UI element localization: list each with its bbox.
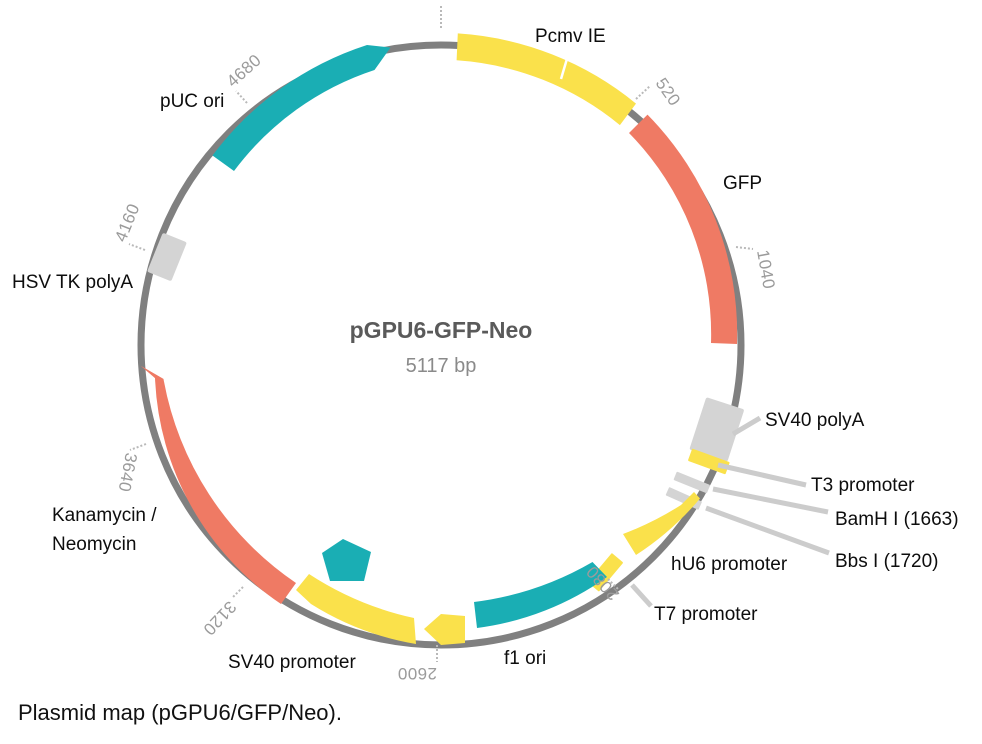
tick-label-4160: 4160 xyxy=(111,201,143,245)
leader-line-t7-promoter xyxy=(632,585,651,606)
plasmid-name: pGPU6-GFP-Neo xyxy=(350,317,533,343)
feature-small-yellow-arrow[interactable] xyxy=(424,614,465,645)
label-hu6-promoter: hU6 promoter xyxy=(671,554,788,575)
label-pcmv-ie: Pcmv IE xyxy=(535,26,606,47)
label-kanamycin-neomycin-line1: Kanamycin / xyxy=(52,505,157,526)
feature-arc-small-yellow xyxy=(424,614,465,645)
feature-arc-kanamycin-neomycin xyxy=(141,366,296,604)
label-hsv-tk-polya: HSV TK polyA xyxy=(12,272,133,293)
plasmid-map-figure: 520 1040 2080 2600 3120 3640 4160 4680 P… xyxy=(0,0,982,744)
leader-line-bbsi xyxy=(706,508,829,553)
tick-label-3120: 3120 xyxy=(199,597,240,639)
feature-arc-pcmv-ie xyxy=(457,33,636,125)
tick-mark-3120 xyxy=(232,587,243,598)
label-sv40-polya: SV40 polyA xyxy=(765,410,865,431)
tick-label-520: 520 xyxy=(652,74,685,109)
label-sv40-promoter: SV40 promoter xyxy=(228,652,356,673)
tick-label-1040: 1040 xyxy=(753,248,779,290)
label-bbsi-site: Bbs I (1720) xyxy=(835,551,939,572)
tick-mark-3640 xyxy=(130,444,146,450)
label-f1-ori: f1 ori xyxy=(504,648,546,669)
feature-pcmv-ie[interactable] xyxy=(457,33,636,125)
label-kanamycin-neomycin-line2: Neomycin xyxy=(52,534,136,555)
plasmid-map-canvas: 520 1040 2080 2600 3120 3640 4160 4680 P… xyxy=(0,0,982,744)
figure-caption: Plasmid map (pGPU6/GFP/Neo). xyxy=(18,700,342,726)
plasmid-size: 5117 bp xyxy=(406,355,477,377)
label-t7-promoter: T7 promoter xyxy=(654,604,758,625)
tick-mark-1040 xyxy=(736,247,753,249)
label-bamhi-site: BamH I (1663) xyxy=(835,509,959,530)
label-puc-ori: pUC ori xyxy=(160,91,224,112)
tick-mark-520 xyxy=(636,86,650,99)
tick-label-4680: 4680 xyxy=(223,50,265,90)
feature-kanamycin-neomycin[interactable] xyxy=(141,366,296,604)
tick-label-3640: 3640 xyxy=(115,451,141,493)
tick-mark-4160 xyxy=(129,244,145,250)
label-t3-promoter: T3 promoter xyxy=(811,475,915,496)
leader-line-t3-promoter xyxy=(718,465,806,485)
tick-mark-4680 xyxy=(236,91,247,103)
label-gfp: GFP xyxy=(723,173,762,194)
decorative-teal-pentagon xyxy=(322,539,371,581)
tick-label-2600: 2600 xyxy=(398,664,437,683)
